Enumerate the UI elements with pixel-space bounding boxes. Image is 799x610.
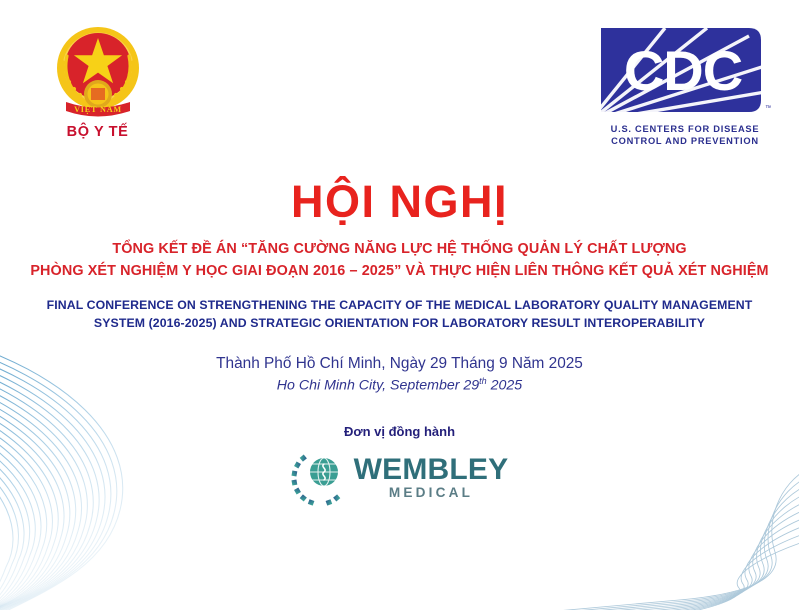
english-subtitle: FINAL CONFERENCE ON STRENGTHENING THE CA… [0, 296, 799, 333]
cdc-tagline-line2: CONTROL AND PREVENTION [599, 136, 771, 148]
wembley-subname: MEDICAL [354, 486, 509, 500]
wembley-name: WEMBLEY [354, 455, 509, 485]
vietnamese-subtitle-line2: PHÒNG XÉT NGHIỆM Y HỌC GIAI ĐOẠN 2016 – … [24, 261, 775, 282]
event-date-location: Thành Phố Hồ Chí Minh, Ngày 29 Tháng 9 N… [0, 353, 799, 396]
ministry-of-health-label: BỘ Y TẾ [30, 124, 165, 140]
ministry-of-health-logo: VIỆT NAM BỘ Y TẾ [30, 18, 165, 140]
english-subtitle-line1: FINAL CONFERENCE ON STRENGTHENING THE CA… [47, 298, 753, 312]
english-subtitle-line2: SYSTEM (2016-2025) AND STRATEGIC ORIENTA… [14, 314, 785, 332]
date-english-year: 2025 [487, 377, 523, 393]
logo-row: VIỆT NAM BỘ Y TẾ [0, 0, 799, 172]
cdc-tagline-line1: U.S. CENTERS FOR DISEASE [611, 124, 760, 134]
cdc-logo: CDC ™ U.S. CENTERS FOR DISEASE CONTROL A… [599, 26, 771, 148]
svg-text:™: ™ [765, 105, 771, 112]
cdc-tagline: U.S. CENTERS FOR DISEASE CONTROL AND PRE… [599, 124, 771, 148]
wembley-gear-globe-caduceus-icon [291, 449, 349, 507]
svg-text:CDC: CDC [624, 39, 742, 102]
vietnamese-subtitle-line1: TỔNG KẾT ĐỀ ÁN “TĂNG CƯỜNG NĂNG LỰC HỆ T… [112, 241, 686, 257]
date-english-ordinal-suffix: th [479, 376, 487, 386]
sponsor-label: Đơn vị đồng hành [0, 424, 799, 439]
svg-text:VIỆT NAM: VIỆT NAM [74, 105, 122, 114]
date-english-text: Ho Chi Minh City, September 29 [277, 377, 479, 393]
sponsor-logo: WEMBLEY MEDICAL [0, 449, 799, 507]
cdc-mark-icon: CDC ™ [599, 26, 771, 120]
conference-banner: VIỆT NAM BỘ Y TẾ [0, 0, 799, 610]
date-vietnamese: Thành Phố Hồ Chí Minh, Ngày 29 Tháng 9 N… [0, 353, 799, 375]
date-english: Ho Chi Minh City, September 29th 2025 [0, 375, 799, 396]
wembley-wordmark: WEMBLEY MEDICAL [354, 455, 509, 500]
vietnam-national-emblem-icon: VIỆT NAM [46, 18, 150, 122]
vietnamese-subtitle: TỔNG KẾT ĐỀ ÁN “TĂNG CƯỜNG NĂNG LỰC HỆ T… [0, 239, 799, 282]
banner-content: HỘI NGHỊ TỔNG KẾT ĐỀ ÁN “TĂNG CƯỜNG NĂNG… [0, 178, 799, 507]
page-title: HỘI NGHỊ [0, 178, 799, 225]
